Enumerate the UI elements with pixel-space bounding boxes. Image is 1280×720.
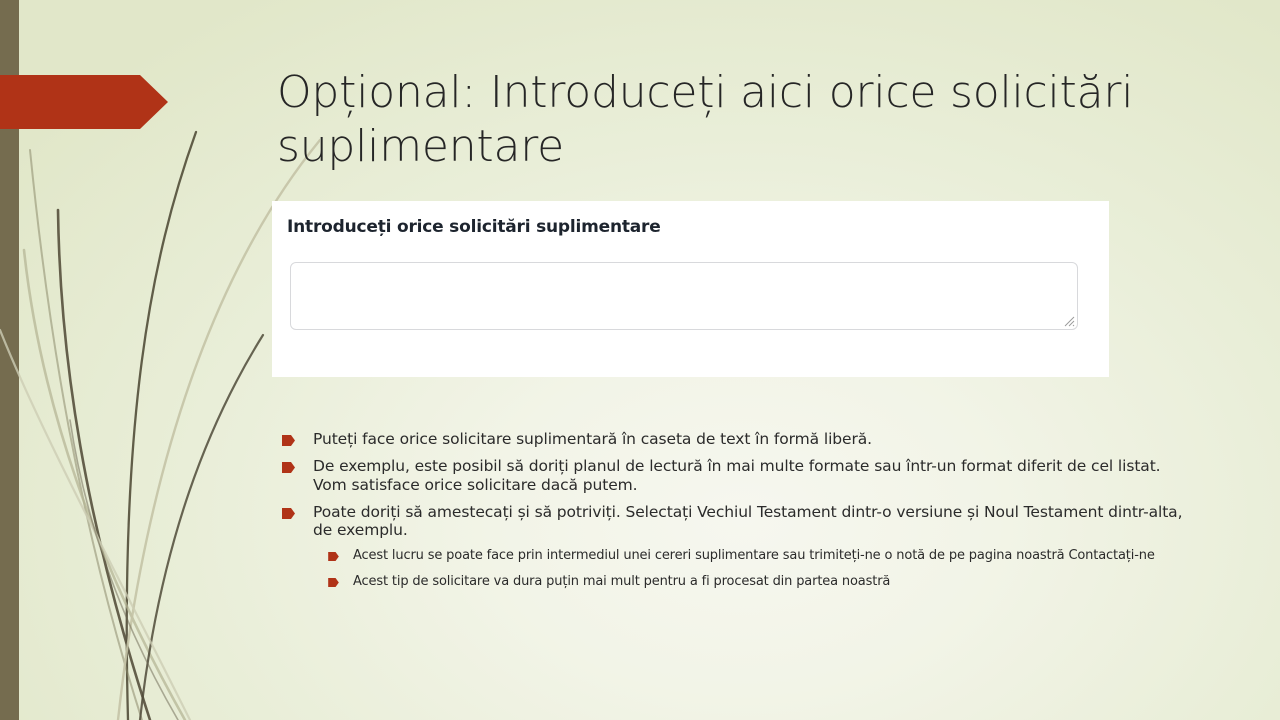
arrow-flag-bullet-icon xyxy=(282,462,295,473)
list-item-text: Acest lucru se poate face prin intermedi… xyxy=(353,548,1155,564)
arrow-flag-bullet-icon xyxy=(282,508,295,519)
list-item: Puteți face orice solicitare suplimentar… xyxy=(282,430,1187,448)
presentation-slide: Opțional: Introduceți aici orice solicit… xyxy=(0,0,1280,720)
arrow-banner-icon xyxy=(0,75,168,129)
arrow-flag-bullet-icon xyxy=(282,435,295,446)
list-item-text: Poate doriți să amestecați și să potrivi… xyxy=(313,503,1187,540)
list-item-text: Puteți face orice solicitare suplimentar… xyxy=(313,430,872,448)
list-item: De exemplu, este posibil să doriți planu… xyxy=(282,457,1187,494)
arrow-flag-bullet-icon xyxy=(328,552,339,561)
additional-requests-textarea[interactable] xyxy=(290,262,1078,330)
page-title: Opțional: Introduceți aici orice solicit… xyxy=(277,66,1202,173)
arrow-flag-bullet-icon xyxy=(328,578,339,587)
list-item: Acest tip de solicitare va dura puțin ma… xyxy=(328,574,1187,590)
list-item: Acest lucru se poate face prin intermedi… xyxy=(328,548,1187,564)
list-item: Poate doriți să amestecați și să potrivi… xyxy=(282,503,1187,540)
form-label: Introduceți orice solicitări suplimentar… xyxy=(287,217,661,237)
bullet-list: Puteți face orice solicitare suplimentar… xyxy=(282,430,1187,600)
list-item-text: Acest tip de solicitare va dura puțin ma… xyxy=(353,574,890,590)
list-item-text: De exemplu, este posibil să doriți planu… xyxy=(313,457,1187,494)
form-card: Introduceți orice solicitări suplimentar… xyxy=(272,201,1109,377)
textarea-wrapper xyxy=(290,262,1078,330)
